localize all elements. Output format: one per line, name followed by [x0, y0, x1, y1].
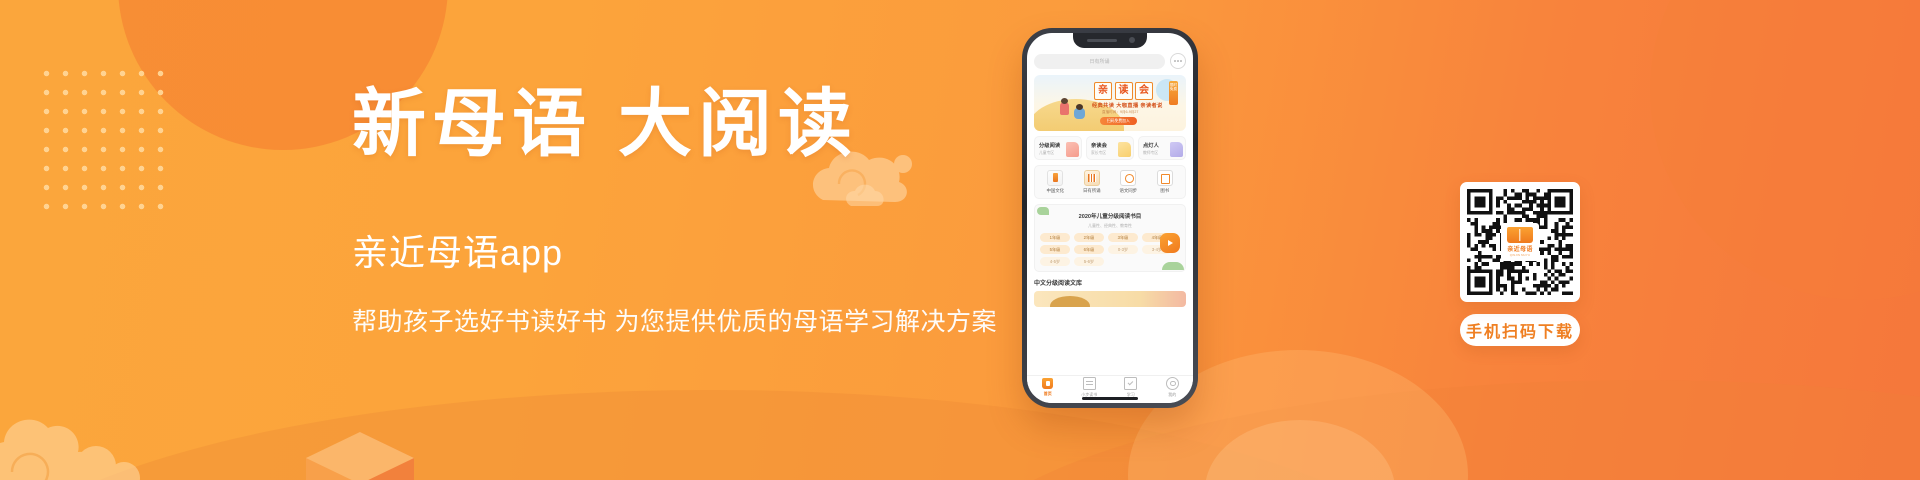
more-icon[interactable] [1170, 53, 1186, 69]
home-indicator [1082, 397, 1138, 400]
category-card-parent-club[interactable]: 亲读会 家长专区 [1086, 136, 1134, 160]
hero-subtitle: 经典共读 大咖直播 亲读者说 [1092, 102, 1163, 109]
hero-char-3: 会 [1135, 82, 1153, 100]
phone-notch [1073, 33, 1147, 48]
booklist-subtitle: 儿童性、经典性、教育性 [1040, 223, 1180, 229]
grade-chip[interactable]: 1年级 [1040, 233, 1070, 242]
app-content: 日有所诵 亲 读 会 限时免费 经典共读 大咖直播 亲读者说 直播时间： [1027, 33, 1193, 307]
sync-icon [1120, 170, 1136, 186]
decor-circle-right [1650, 0, 1920, 300]
decor-cube [300, 398, 420, 480]
download-button[interactable]: 手机扫码下载 [1460, 314, 1580, 346]
app-search-row: 日有所诵 [1034, 53, 1186, 69]
library-shelf-illustration[interactable] [1034, 291, 1186, 307]
quick-link-label: 语文同步 [1110, 188, 1147, 194]
page-title: 新母语大阅读 [352, 88, 1032, 162]
study-icon [1124, 377, 1137, 390]
quick-link-label: 中国文化 [1037, 188, 1074, 194]
hero-child-1 [1060, 102, 1069, 115]
hero-banner[interactable]: 亲 读 会 限时免费 经典共读 大咖直播 亲读者说 直播时间：9月6-9月27 … [1034, 75, 1186, 131]
age-chip[interactable]: 4-5岁 [1040, 257, 1070, 266]
decor-hill-left [0, 390, 1460, 480]
booklist-title: 2020年儿童分级阅读书目 [1040, 212, 1180, 220]
library-section-title: 中文分级阅读文库 [1034, 278, 1186, 287]
quick-link-recite[interactable]: 日有所诵 [1074, 170, 1111, 195]
quick-link-books[interactable]: 图书 [1147, 170, 1184, 195]
decor-glow-under-phone-2 [1205, 420, 1395, 480]
play-video-icon[interactable] [1160, 233, 1180, 253]
brand-mark-icon [1507, 227, 1533, 243]
grade-chip[interactable]: 5年级 [1040, 245, 1070, 254]
hero-char-1: 亲 [1094, 82, 1112, 100]
grade-chip-group: 1年级 2年级 3年级 4年级 5年级 6年级 0-3岁 3-4岁 4-5岁 5… [1040, 233, 1180, 266]
tab-label: 首页 [1027, 391, 1069, 397]
category-card-teacher[interactable]: 点灯人 教师专区 [1138, 136, 1186, 160]
tab-home[interactable]: 首页 [1027, 378, 1069, 397]
search-input[interactable]: 日有所诵 [1034, 54, 1165, 69]
age-chip[interactable]: 5-6岁 [1074, 257, 1104, 266]
brand-name-cn: 亲近母语 [1507, 244, 1533, 253]
quick-links-row: 中国文化 日有所诵 语文同步 图书 [1034, 165, 1186, 199]
copy-block: 新母语大阅读 亲近母语app 帮助孩子选好书读好书 为您提供优质的母语学习解决方… [352, 88, 1032, 338]
home-icon [1042, 378, 1053, 389]
hero-title: 亲 读 会 [1094, 82, 1153, 100]
tab-study[interactable]: 学习 [1110, 377, 1152, 398]
brand-name-en: QINJIN MUYU [1510, 253, 1530, 257]
card-illustration [1066, 142, 1079, 157]
decor-dot-grid [35, 62, 175, 212]
qr-code[interactable]: 亲近母语 QINJIN MUYU [1460, 182, 1580, 302]
promo-banner: 新母语大阅读 亲近母语app 帮助孩子选好书读好书 为您提供优质的母语学习解决方… [0, 0, 1920, 480]
grade-chip[interactable]: 6年级 [1074, 245, 1104, 254]
tab-label: 我的 [1152, 392, 1194, 398]
card-illustration [1118, 142, 1131, 157]
recite-icon [1084, 170, 1100, 186]
booklist-panel[interactable]: 2020年儿童分级阅读书目 儿童性、经典性、教育性 1年级 2年级 3年级 4年… [1034, 204, 1186, 272]
grade-chip[interactable]: 3年级 [1108, 233, 1138, 242]
hero-child-2 [1074, 108, 1085, 119]
phone-screen: 日有所诵 亲 读 会 限时免费 经典共读 大咖直播 亲读者说 直播时间： [1027, 33, 1193, 403]
profile-icon [1166, 377, 1179, 390]
books-icon [1157, 170, 1173, 186]
qr-block: 亲近母语 QINJIN MUYU 手机扫码下载 [1460, 182, 1580, 346]
tab-profile[interactable]: 我的 [1152, 377, 1194, 398]
age-chip[interactable]: 0-3岁 [1108, 245, 1138, 254]
qr-center-logo: 亲近母语 QINJIN MUYU [1501, 223, 1539, 261]
tagline: 帮助孩子选好书读好书 为您提供优质的母语学习解决方案 [352, 302, 1032, 338]
tab-reading[interactable]: 小步读书 [1069, 377, 1111, 398]
book-icon [1083, 377, 1096, 390]
quick-link-sync[interactable]: 语文同步 [1110, 170, 1147, 195]
category-cards: 分级阅读 儿童专区 亲读会 家长专区 点灯人 教师专区 [1034, 136, 1186, 160]
hero-char-2: 读 [1115, 82, 1133, 100]
leaf-icon-top-left [1037, 207, 1049, 215]
cloud-icon-bottom-left [0, 380, 168, 480]
grade-chip[interactable]: 2年级 [1074, 233, 1104, 242]
hero-cta-button[interactable]: 扫码免费加入 [1100, 117, 1137, 125]
headline-part-1: 新母语 [352, 84, 592, 166]
headline-part-2: 大阅读 [618, 84, 858, 166]
culture-icon [1047, 170, 1063, 186]
phone-mockup: 日有所诵 亲 读 会 限时免费 经典共读 大咖直播 亲读者说 直播时间： [1022, 28, 1198, 408]
quick-link-label: 图书 [1147, 188, 1184, 194]
quick-link-culture[interactable]: 中国文化 [1037, 170, 1074, 195]
card-illustration [1170, 142, 1183, 157]
quick-link-label: 日有所诵 [1074, 188, 1111, 194]
category-card-graded-reading[interactable]: 分级阅读 儿童专区 [1034, 136, 1082, 160]
hero-ribbon-badge: 限时免费 [1169, 81, 1178, 105]
app-name: 亲近母语app [352, 224, 1032, 276]
hero-date: 直播时间：9月6-9月27 [1102, 110, 1138, 115]
